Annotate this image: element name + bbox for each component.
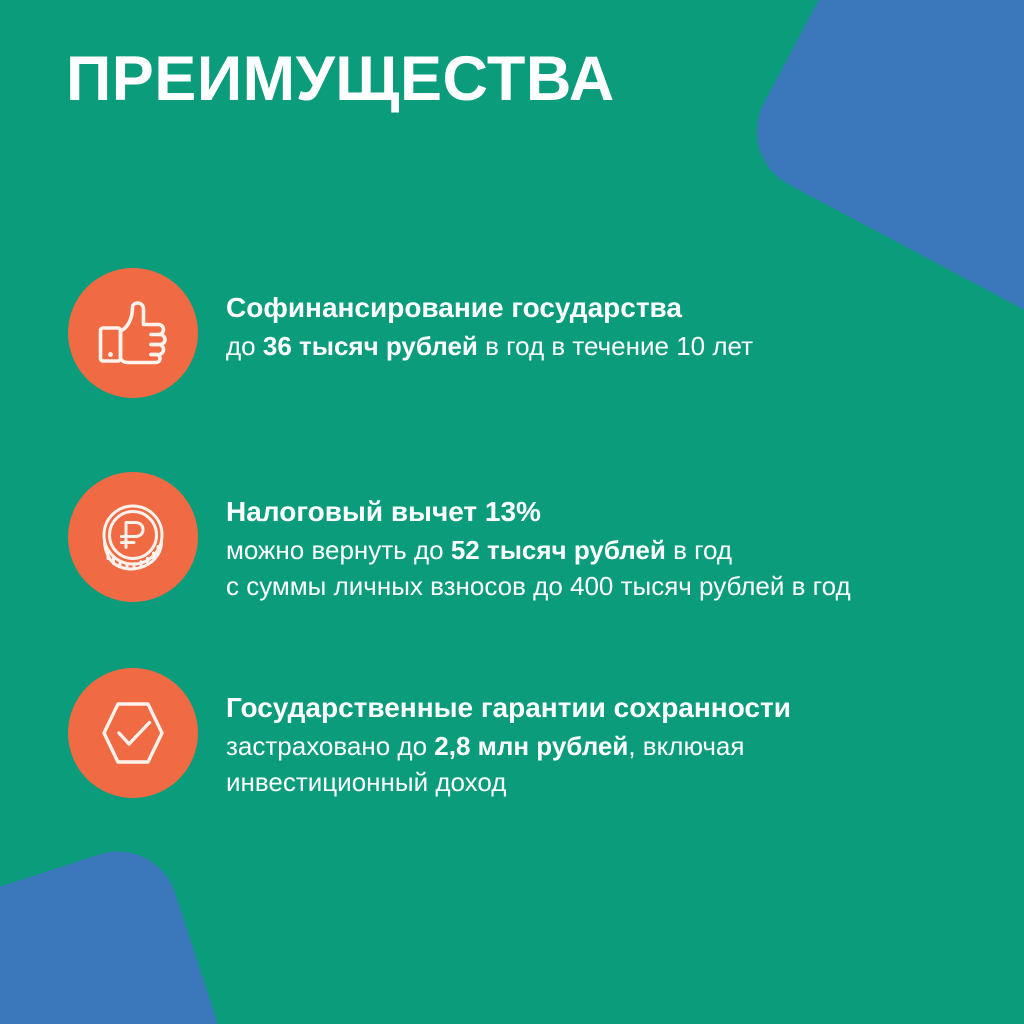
desc-highlight: 2,8 млн рублей [434,731,628,761]
benefits-list: Софинансирование государства до 36 тысяч… [0,268,1024,820]
desc-suffix: в год [666,535,732,565]
benefit-heading: Софинансирование государства [226,290,1024,327]
benefit-description: застраховано до 2,8 млн рублей, включая … [226,729,1024,801]
desc-prefix: можно вернуть до [226,535,451,565]
benefit-description-line: с суммы личных взносов до 400 тысяч рубл… [226,569,1024,605]
benefit-description-line: инвестиционный доход [226,765,1024,801]
benefit-description-line: можно вернуть до 52 тысяч рублей в год [226,533,1024,569]
hexagon-check-icon [94,694,172,772]
benefit-icon-badge [68,268,198,398]
desc-suffix: в год в течение 10 лет [478,331,753,361]
desc-suffix: , включая [628,731,744,761]
slide-canvas: ПРЕИМУЩЕСТВА [0,0,1024,1024]
benefit-text-block: Налоговый вычет 13% можно вернуть до 52 … [226,472,1024,605]
benefit-text-block: Государственные гарантии сохранности зас… [226,668,1024,801]
benefit-item-tax-deduction: Налоговый вычет 13% можно вернуть до 52 … [0,472,1024,624]
ruble-coin-icon [94,498,172,576]
benefit-icon-badge [68,668,198,798]
benefit-heading: Государственные гарантии сохранности [226,690,1024,727]
desc-prefix: застраховано до [226,731,434,761]
benefit-icon-badge [68,472,198,602]
benefit-text-block: Софинансирование государства до 36 тысяч… [226,268,1024,365]
benefit-description: до 36 тысяч рублей в год в течение 10 ле… [226,329,1024,365]
benefit-item-state-guarantee: Государственные гарантии сохранности зас… [0,668,1024,820]
benefit-description-line: застраховано до 2,8 млн рублей, включая [226,729,1024,765]
desc-highlight: 36 тысяч рублей [263,331,478,361]
desc-prefix: до [226,331,263,361]
thumbs-up-icon [94,294,172,372]
bottom-left-blue-shape [0,836,286,1024]
desc-highlight: 52 тысяч рублей [451,535,666,565]
page-title: ПРЕИМУЩЕСТВА [66,48,615,111]
benefit-description: можно вернуть до 52 тысяч рублей в год с… [226,533,1024,605]
benefit-heading: Налоговый вычет 13% [226,494,1024,531]
benefit-description-line: до 36 тысяч рублей в год в течение 10 ле… [226,329,1024,365]
benefit-item-cofinancing: Софинансирование государства до 36 тысяч… [0,268,1024,420]
